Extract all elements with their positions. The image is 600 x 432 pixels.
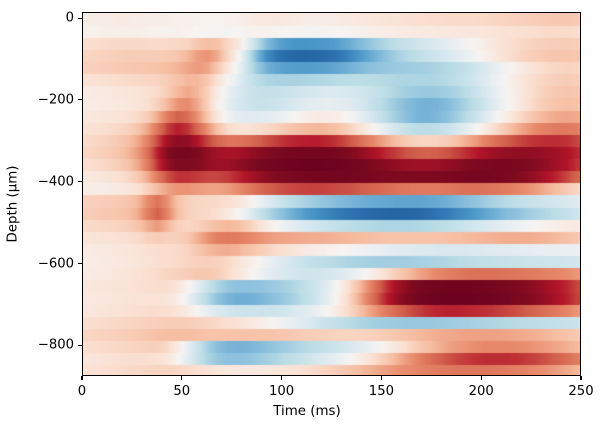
x-tick-label: 0 — [78, 385, 86, 398]
x-tick-mark — [181, 376, 182, 380]
x-tick-mark — [481, 376, 482, 380]
y-tick-label: 0 — [10, 12, 74, 25]
y-tick-mark — [78, 18, 82, 19]
x-tick-mark — [81, 376, 82, 380]
x-tick-label: 250 — [568, 385, 593, 398]
y-tick-label: −200 — [10, 93, 74, 106]
x-tick-label: 200 — [469, 385, 494, 398]
y-tick-mark — [78, 345, 82, 346]
x-tick-mark — [381, 376, 382, 380]
x-tick-mark — [580, 376, 581, 380]
heatmap-image — [83, 13, 581, 376]
y-tick-label: −600 — [10, 257, 74, 270]
x-tick-mark — [281, 376, 282, 380]
x-tick-label: 50 — [173, 385, 190, 398]
x-axis-label: Time (ms) — [0, 404, 600, 419]
y-axis-label-text: Depth (μm) — [6, 165, 21, 242]
x-axis-label-text: Time (ms) — [273, 404, 341, 419]
y-tick-mark — [78, 263, 82, 264]
x-tick-label: 150 — [369, 385, 394, 398]
x-tick-label: 100 — [269, 385, 294, 398]
y-tick-mark — [78, 99, 82, 100]
figure-canvas: 0−200−400−600−800 050100150200250 Time (… — [0, 0, 600, 432]
y-axis-label: Depth (μm) — [3, 194, 23, 214]
y-tick-label: −800 — [10, 339, 74, 352]
y-tick-mark — [78, 181, 82, 182]
heatmap-axes — [82, 12, 581, 376]
